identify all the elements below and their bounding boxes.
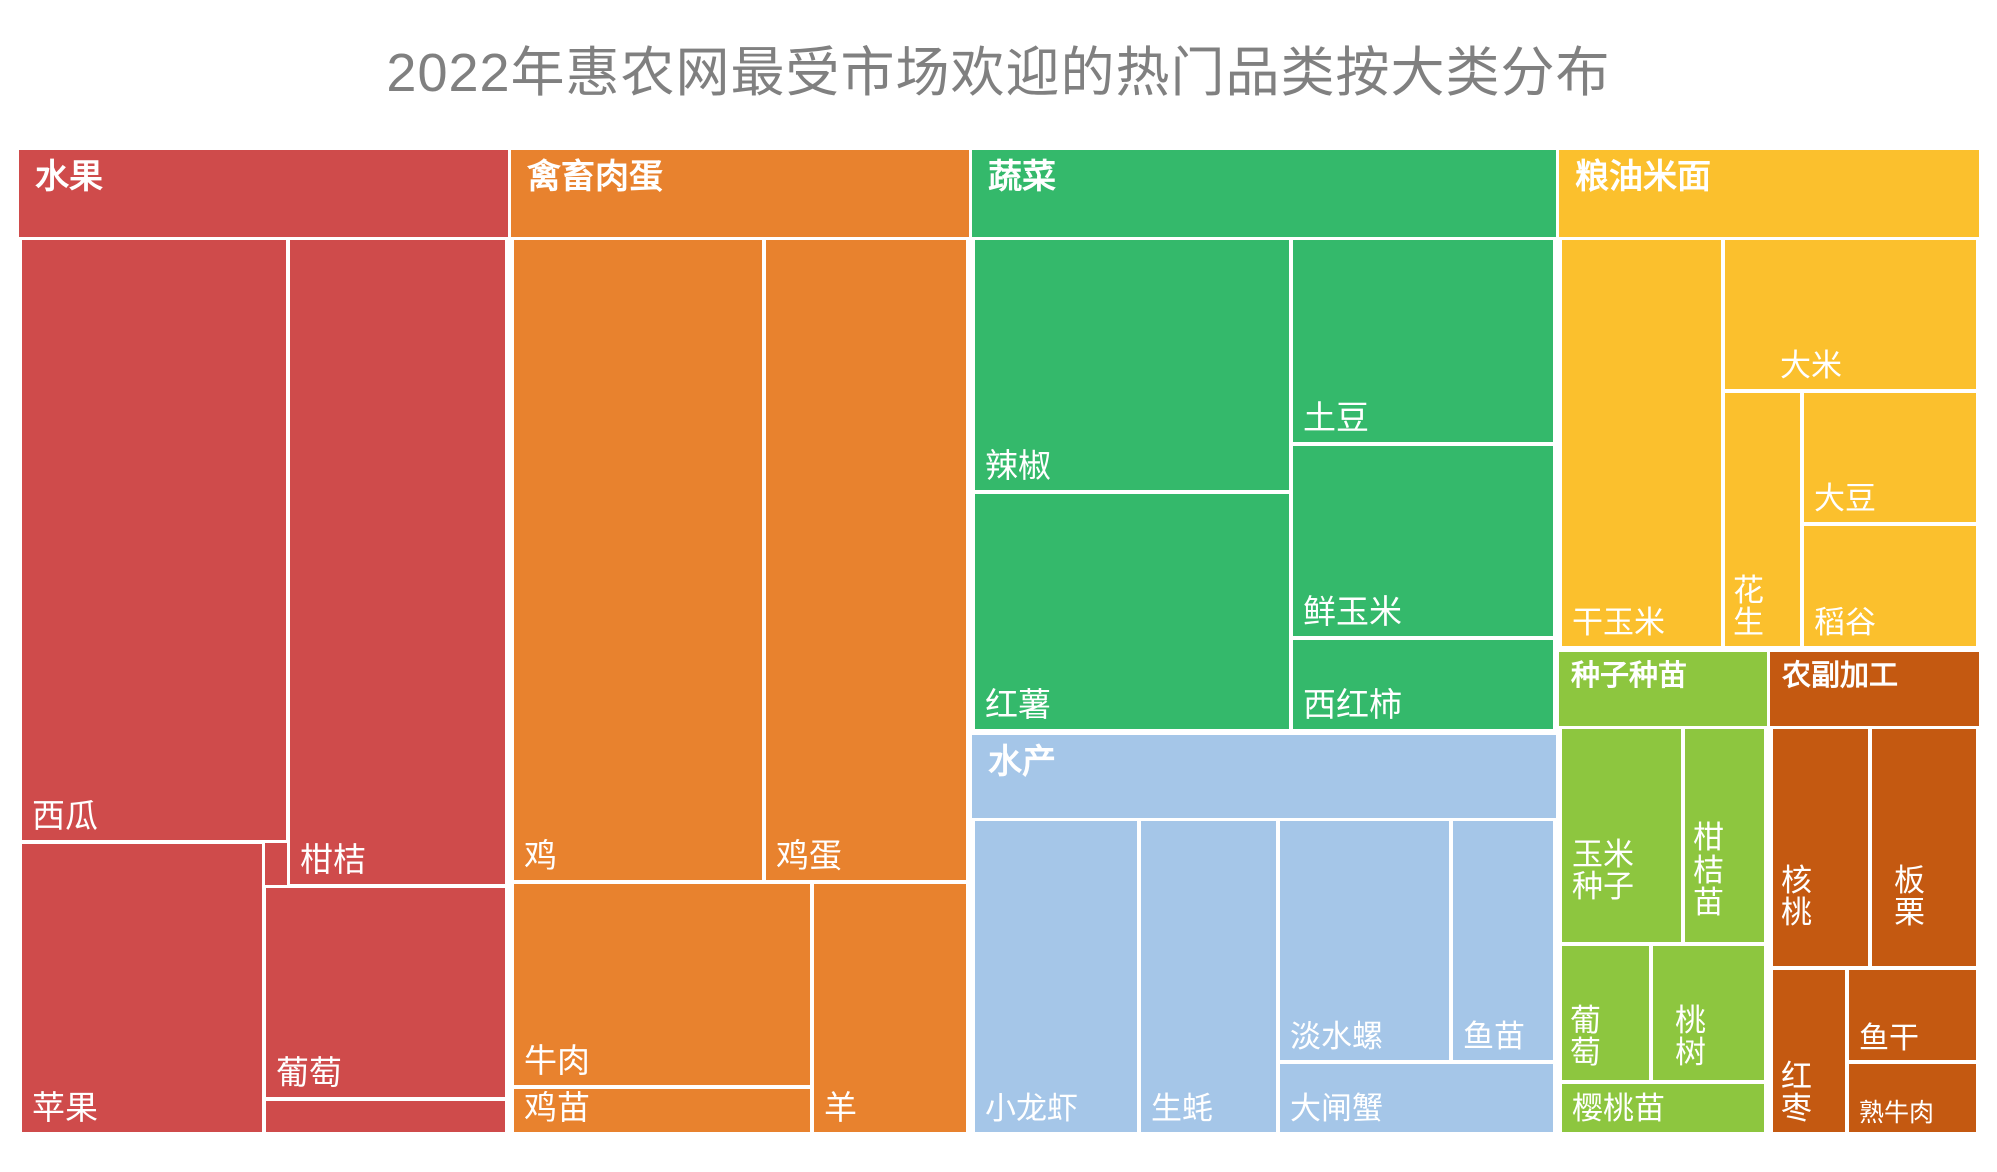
tile-drycorn[interactable]: 干玉米 [1559, 237, 1724, 649]
tile-tomato[interactable]: 西红柿 [1290, 637, 1556, 732]
tile-label-rice: 大米 [1780, 350, 1842, 383]
tile-label-fry: 鱼苗 [1463, 1021, 1525, 1054]
tile-peach-tree[interactable]: 桃 树 [1650, 943, 1767, 1083]
tile-grape[interactable]: 葡萄 [263, 885, 508, 1100]
tile-cornseed[interactable]: 玉米 种子 [1559, 726, 1684, 945]
tile-label-snail: 淡水螺 [1290, 1021, 1383, 1054]
tile-jujube[interactable]: 红 枣 [1770, 967, 1848, 1135]
tile-label-potato: 土豆 [1303, 401, 1369, 436]
tile-crayfish[interactable]: 小龙虾 [972, 818, 1140, 1135]
tile-label-crab: 大闸蟹 [1290, 1093, 1383, 1126]
tile-label-oyster: 生蚝 [1151, 1093, 1213, 1126]
tile-label-cornseed: 玉米 种子 [1572, 839, 1634, 904]
group-header-agri: 农副加工 [1770, 652, 1898, 693]
tile-paddy[interactable]: 稻谷 [1801, 523, 1979, 649]
tile-apple[interactable]: 苹果 [19, 841, 265, 1135]
tile-label-peanut: 花 生 [1733, 575, 1764, 640]
tile-soybean[interactable]: 大豆 [1801, 390, 1979, 525]
tile-dried-fish[interactable]: 鱼干 [1846, 967, 1979, 1063]
group-header-aqua: 水产 [972, 735, 1056, 782]
tile-crab[interactable]: 大闸蟹 [1277, 1061, 1556, 1135]
group-header-seed: 种子种苗 [1559, 652, 1687, 693]
tile-lemon-body[interactable] [263, 1098, 508, 1135]
tile-egg[interactable]: 鸡蛋 [763, 237, 969, 883]
tile-fry[interactable]: 鱼苗 [1450, 818, 1556, 1063]
tile-label-walnut: 核 桃 [1781, 865, 1812, 930]
tile-citrus-seedling[interactable]: 柑 桔 苗 [1682, 726, 1767, 945]
tile-label-pepper: 辣椒 [985, 449, 1051, 484]
tile-label-sweetpotato: 红薯 [985, 688, 1051, 723]
tile-label-chick: 鸡苗 [524, 1091, 590, 1126]
tile-label-watermelon: 西瓜 [32, 799, 98, 834]
tile-potato[interactable]: 土豆 [1290, 237, 1556, 445]
tile-chicken[interactable]: 鸡 [511, 237, 765, 883]
tile-label-peach-tree: 桃 树 [1675, 1005, 1706, 1070]
tile-label-jujube: 红 枣 [1781, 1061, 1812, 1126]
tile-label-grape: 葡萄 [276, 1056, 342, 1091]
tile-chick[interactable]: 鸡苗 [511, 1086, 813, 1135]
tile-label-sheep: 羊 [824, 1091, 857, 1126]
tile-oyster[interactable]: 生蚝 [1138, 818, 1279, 1135]
tile-label-drycorn: 干玉米 [1572, 607, 1665, 640]
tile-label-sweetcorn: 鲜玉米 [1303, 595, 1402, 630]
tile-label-soybean: 大豆 [1814, 483, 1876, 516]
tile-label-citrus: 柑桔 [300, 843, 366, 878]
tile-sweetcorn[interactable]: 鲜玉米 [1290, 443, 1556, 639]
tile-sweetpotato[interactable]: 红薯 [972, 491, 1292, 732]
tile-label-cherry-seedling: 樱桃苗 [1572, 1093, 1665, 1126]
tile-label-tomato: 西红柿 [1303, 688, 1402, 723]
tile-snail[interactable]: 淡水螺 [1277, 818, 1452, 1063]
tile-chestnut[interactable]: 板 栗 [1869, 726, 1979, 969]
tile-beef[interactable]: 牛肉 [511, 881, 813, 1088]
tile-label-dried-fish: 鱼干 [1859, 1023, 1919, 1055]
tile-label-chicken: 鸡 [524, 839, 557, 874]
tile-label-citrus-seedling: 柑 桔 苗 [1693, 822, 1724, 920]
tile-rice[interactable]: 大米 [1722, 237, 1979, 392]
tile-pepper[interactable]: 辣椒 [972, 237, 1292, 493]
tile-label-grape-seedling: 葡 萄 [1570, 1005, 1601, 1070]
tile-cherry-seedling[interactable]: 樱桃苗 [1559, 1081, 1767, 1135]
treemap-chart-root: 2022年惠农网最受市场欢迎的热门品类按大类分布 水果 西瓜 柑桔 葡萄 苹果 … [0, 0, 1997, 1172]
tile-label-cooked-beef: 熟牛肉 [1859, 1100, 1934, 1126]
group-header-fruit: 水果 [19, 150, 103, 197]
page-title: 2022年惠农网最受市场欢迎的热门品类按大类分布 [0, 28, 1997, 107]
tile-grape-seedling[interactable]: 葡 萄 [1559, 943, 1652, 1083]
tile-walnut[interactable]: 核 桃 [1770, 726, 1871, 969]
group-header-grain: 粮油米面 [1559, 150, 1711, 197]
tile-label-chestnut: 板 栗 [1894, 865, 1925, 930]
tile-label-apple: 苹果 [32, 1091, 98, 1126]
treemap-container: 水果 西瓜 柑桔 葡萄 苹果 柠檬 禽畜肉蛋 鸡 鸡蛋 牛肉 [19, 150, 1979, 1135]
tile-label-paddy: 稻谷 [1814, 607, 1876, 640]
tile-watermelon[interactable]: 西瓜 [19, 237, 289, 843]
tile-label-crayfish: 小龙虾 [985, 1093, 1078, 1126]
tile-citrus[interactable]: 柑桔 [287, 237, 508, 887]
group-header-meat: 禽畜肉蛋 [511, 150, 663, 197]
tile-label-beef: 牛肉 [524, 1044, 590, 1079]
group-header-veg: 蔬菜 [972, 150, 1056, 197]
tile-peanut[interactable]: 花 生 [1722, 390, 1803, 649]
tile-label-egg: 鸡蛋 [776, 839, 842, 874]
tile-sheep[interactable]: 羊 [811, 881, 969, 1135]
tile-cooked-beef[interactable]: 熟牛肉 [1846, 1061, 1979, 1135]
